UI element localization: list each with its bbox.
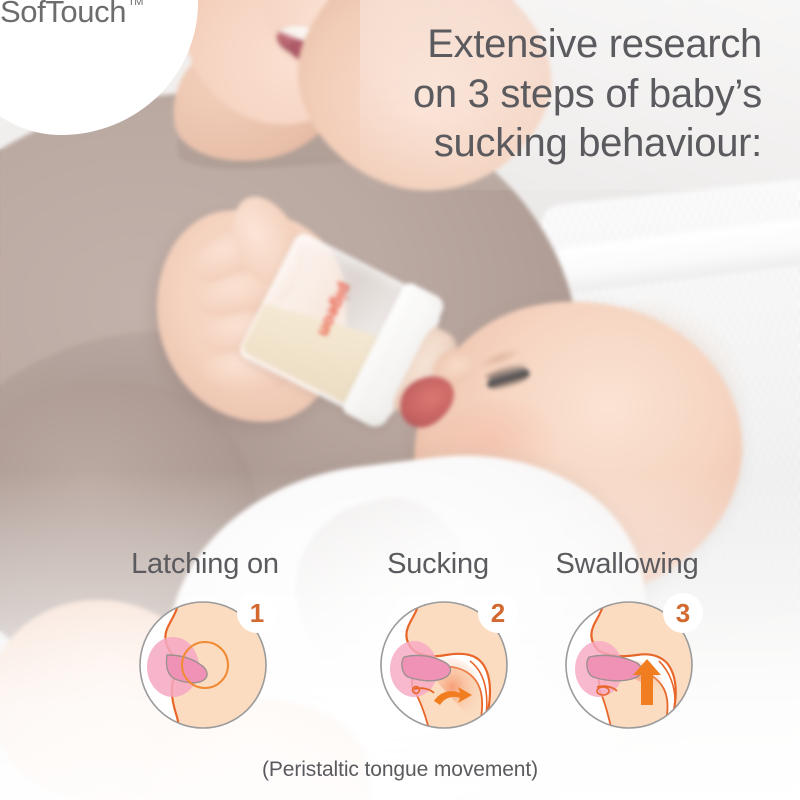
step-swallowing: Swallowing <box>508 548 738 739</box>
brand-logo: Pigeon SofTouch TM <box>0 0 160 28</box>
product-line-wrap: SofTouch TM <box>0 0 126 28</box>
step-number-badge: 3 <box>663 593 703 633</box>
step-label: Latching on <box>92 548 318 581</box>
step-label: Swallowing <box>516 548 738 581</box>
headline-line-3: sucking behaviour: <box>342 119 762 169</box>
step-number-badge: 1 <box>237 593 277 633</box>
step-latching-on: Latching on <box>88 548 318 739</box>
headline: Extensive research on 3 steps of baby’s … <box>342 20 762 169</box>
swallowing-diagram: 3 <box>559 595 699 735</box>
diagram-holder: 1 <box>88 589 318 739</box>
sucking-diagram: 2 <box>374 595 514 735</box>
trademark-icon: TM <box>128 0 143 9</box>
latching-on-diagram: 1 <box>133 595 273 735</box>
poster-root: pigeon Pigeon SofTouch TM <box>0 0 800 800</box>
diagram-holder: 3 <box>508 589 738 739</box>
steps-section: Latching on <box>0 548 800 758</box>
headline-line-1: Extensive research <box>342 20 762 70</box>
diagram-caption: (Peristaltic tongue movement) <box>0 758 800 782</box>
product-line-name: SofTouch <box>0 0 126 29</box>
headline-line-2: on 3 steps of baby’s <box>342 70 762 120</box>
